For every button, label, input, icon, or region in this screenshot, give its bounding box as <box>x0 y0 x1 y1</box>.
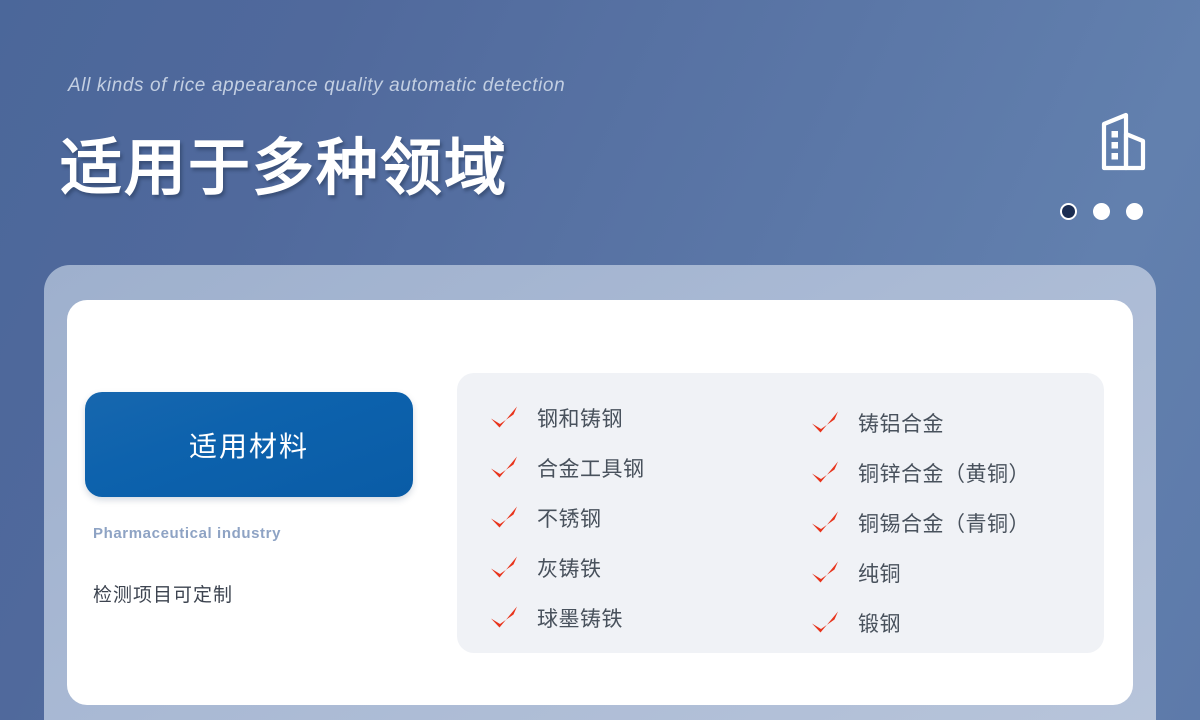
check-icon <box>810 410 840 436</box>
check-icon <box>810 460 840 486</box>
list-item: 灰铸铁 <box>489 543 645 593</box>
material-label: 锻钢 <box>858 608 901 638</box>
material-label: 纯铜 <box>858 558 901 588</box>
list-item: 球墨铸铁 <box>489 593 645 643</box>
material-label: 铸铝合金 <box>858 408 944 438</box>
material-label: 合金工具钢 <box>537 453 645 483</box>
material-label: 钢和铸钢 <box>537 403 623 433</box>
check-icon <box>489 505 519 531</box>
carousel-dot-2[interactable] <box>1093 203 1110 220</box>
material-label: 铜锡合金（青铜） <box>858 508 1030 538</box>
list-item: 铜锌合金（黄铜） <box>810 448 1030 498</box>
check-icon <box>810 510 840 536</box>
check-icon <box>489 405 519 431</box>
list-item: 铜锡合金（青铜） <box>810 498 1030 548</box>
check-icon <box>810 610 840 636</box>
check-icon <box>489 605 519 631</box>
building-icon <box>1090 110 1156 176</box>
applicable-materials-button-label: 适用材料 <box>189 425 309 465</box>
header-eyebrow-text: All kinds of rice appearance quality aut… <box>68 75 565 97</box>
carousel-dots[interactable] <box>1060 203 1143 220</box>
material-label: 铜锌合金（黄铜） <box>858 458 1030 488</box>
customizable-items-text: 检测项目可定制 <box>93 580 233 607</box>
list-item: 钢和铸钢 <box>489 393 645 443</box>
applicable-materials-button[interactable]: 适用材料 <box>85 392 413 497</box>
list-item: 合金工具钢 <box>489 443 645 493</box>
list-item: 锻钢 <box>810 598 1030 648</box>
page-title: 适用于多种领域 <box>60 117 508 207</box>
material-label: 灰铸铁 <box>537 553 602 583</box>
check-icon <box>489 555 519 581</box>
check-icon <box>810 560 840 586</box>
carousel-dot-1[interactable] <box>1060 203 1077 220</box>
list-item: 纯铜 <box>810 548 1030 598</box>
page-header: All kinds of rice appearance quality aut… <box>0 0 1200 265</box>
list-item: 铸铝合金 <box>810 398 1030 448</box>
materials-column-right: 铸铝合金 铜锌合金（黄铜） 铜锡合金（青铜） <box>810 398 1030 648</box>
materials-list-panel: 钢和铸钢 合金工具钢 不锈钢 灰铸铁 <box>457 373 1104 653</box>
list-item: 不锈钢 <box>489 493 645 543</box>
material-label: 球墨铸铁 <box>537 603 623 633</box>
industry-subtitle-en: Pharmaceutical industry <box>93 525 281 542</box>
materials-column-left: 钢和铸钢 合金工具钢 不锈钢 灰铸铁 <box>489 393 645 643</box>
carousel-dot-3[interactable] <box>1126 203 1143 220</box>
check-icon <box>489 455 519 481</box>
material-label: 不锈钢 <box>537 503 602 533</box>
